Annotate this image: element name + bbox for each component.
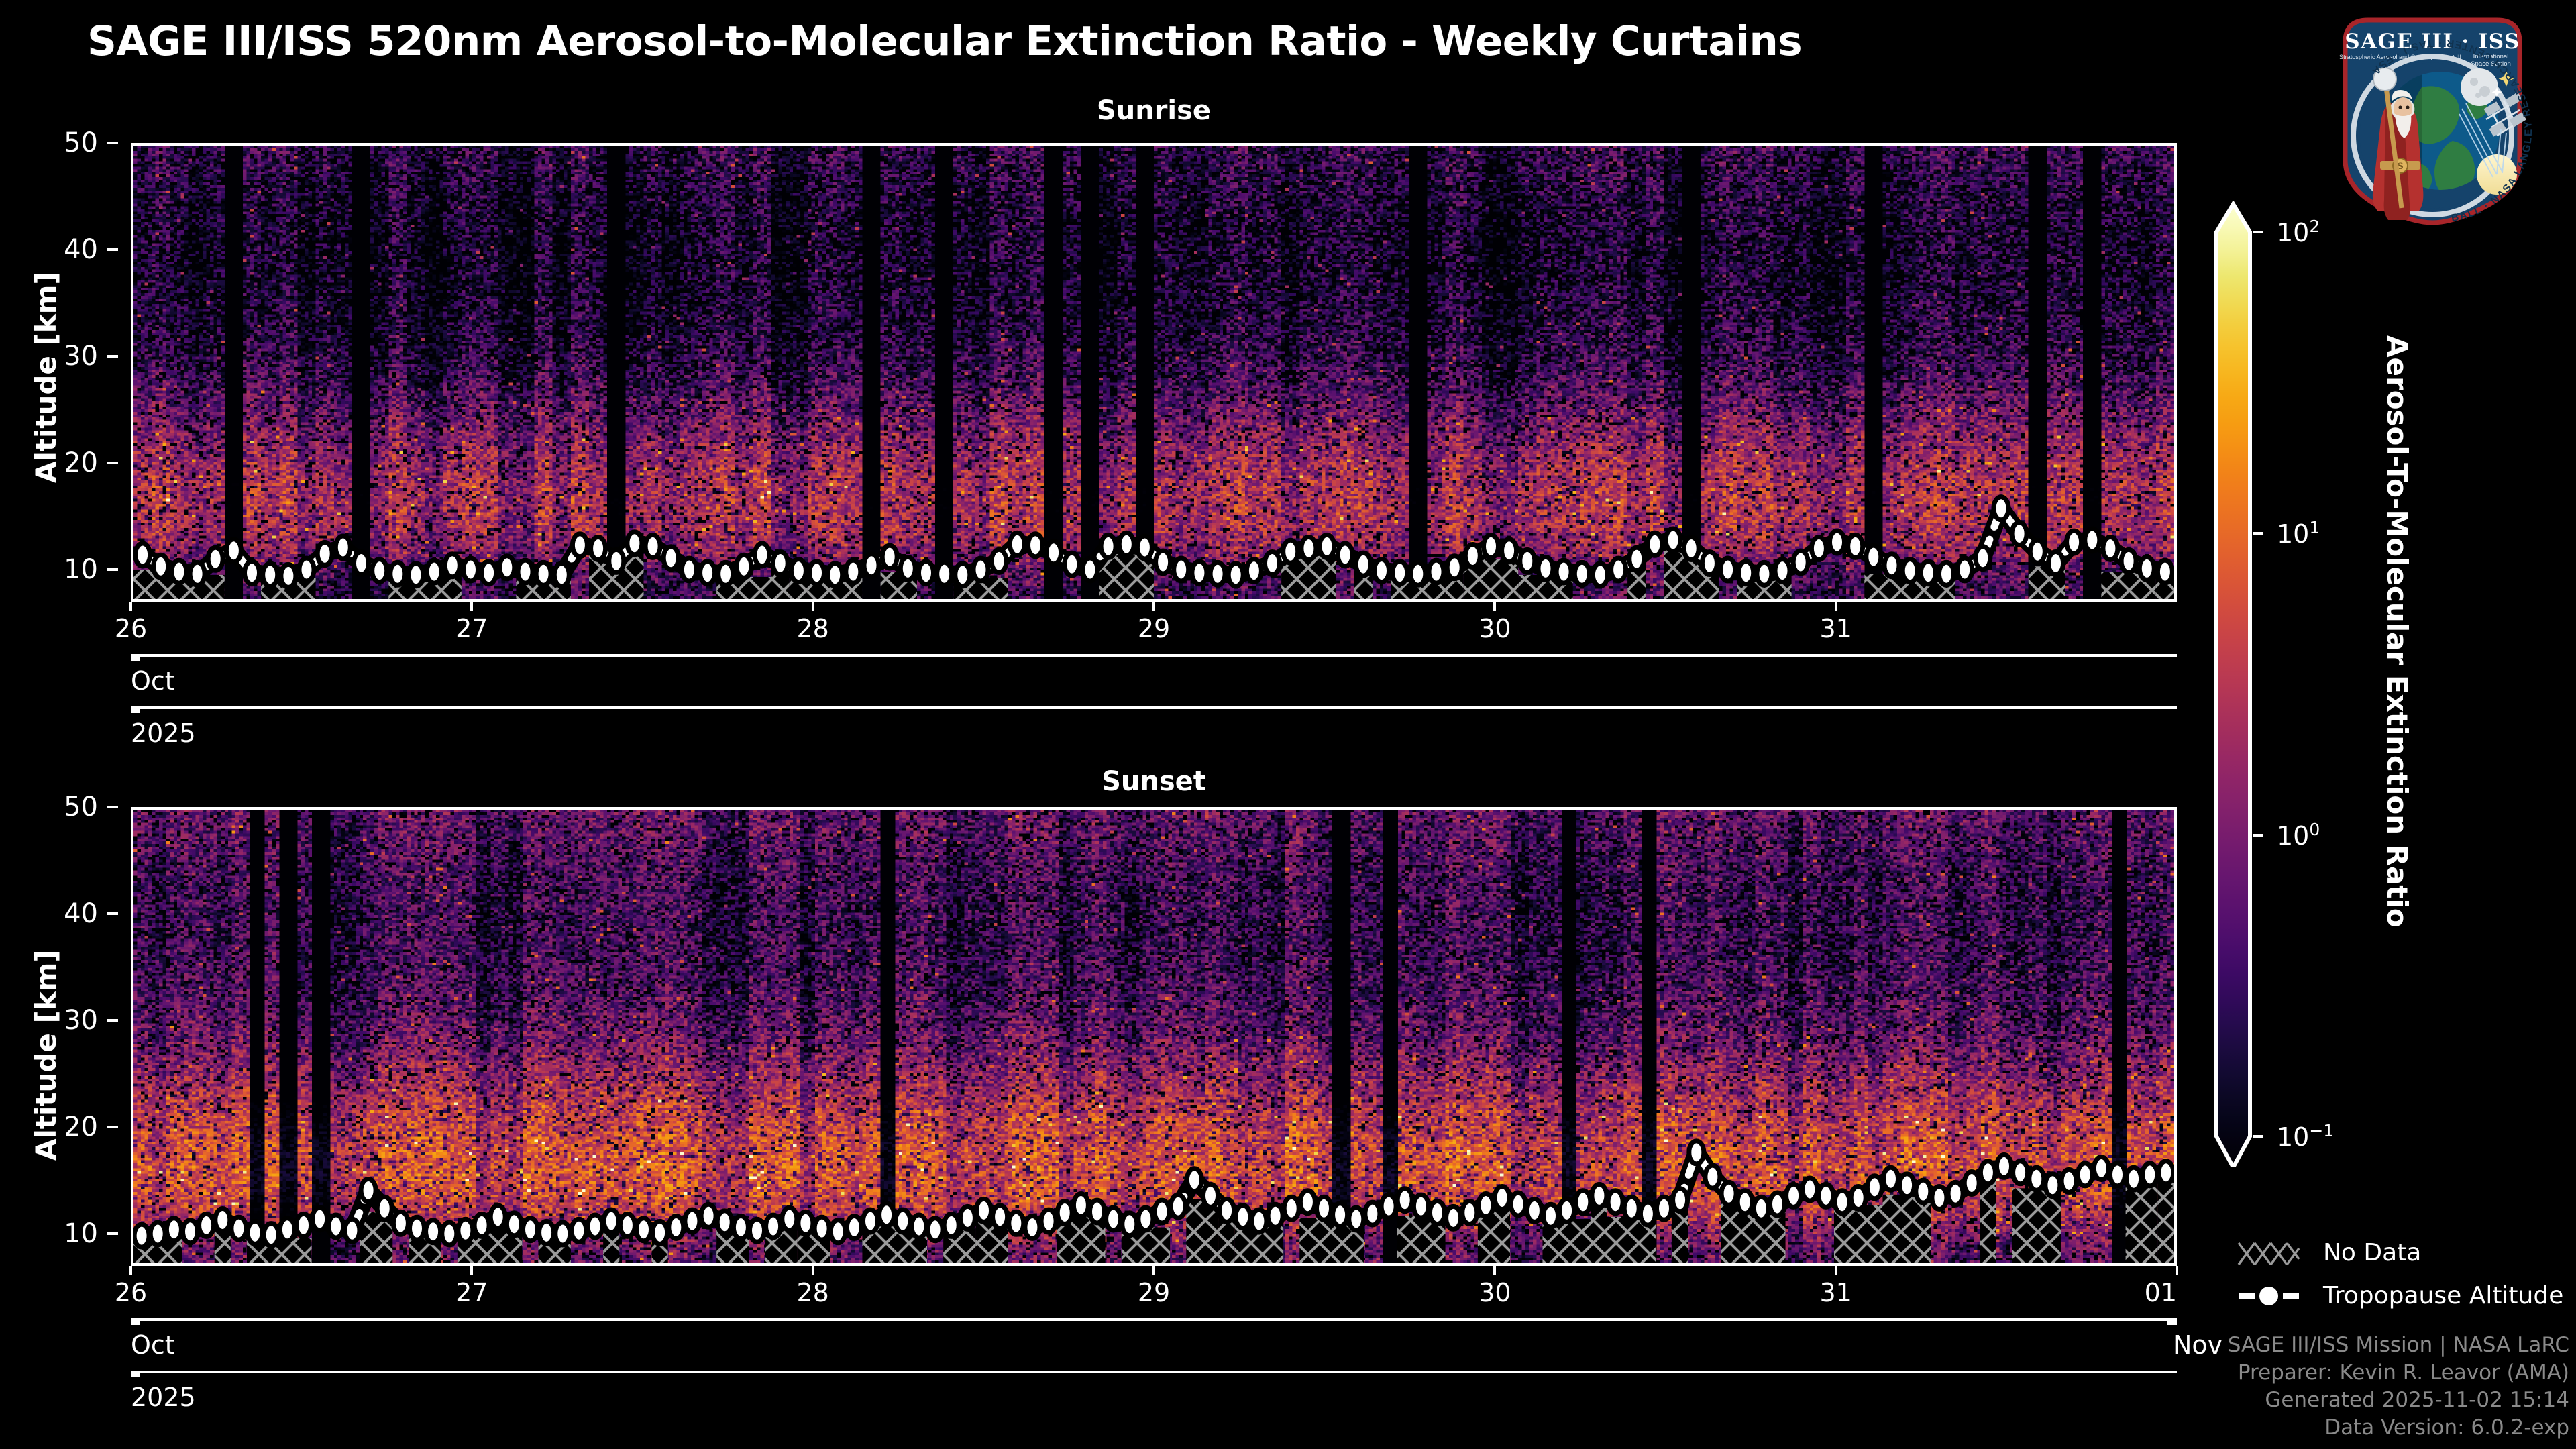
month-band-line (131, 654, 2177, 657)
y-axis-ticks-sunset: 1020304050 (40, 807, 118, 1266)
month-band-cap (131, 1318, 140, 1325)
footer-line-version: Data Version: 6.0.2-exp (2228, 1414, 2569, 1442)
colorbar-tick-mark (2253, 532, 2263, 535)
year-label: 2025 (131, 718, 196, 748)
x-tick-label-day: 01 (2145, 1278, 2177, 1307)
x-tick-mark (1152, 602, 1155, 611)
page-title: SAGE III/ISS 520nm Aerosol-to-Molecular … (87, 17, 2267, 65)
x-tick-mark (1835, 602, 1837, 611)
y-tick-label: 20 (64, 1112, 98, 1142)
legend-row-no-data: No Data (2237, 1238, 2573, 1273)
x-tick-label-day: 26 (115, 1278, 147, 1307)
heatmap-panel-sunrise[interactable] (131, 143, 2177, 602)
colorbar-body (2216, 204, 2250, 1167)
footer-line-preparer: Preparer: Kevin R. Leavor (AMA) (2228, 1359, 2569, 1387)
x-tick-label-day: 28 (796, 614, 828, 643)
y-tick-label: 30 (64, 1005, 98, 1036)
y-tick-label: 20 (64, 447, 98, 478)
footer-line-mission: SAGE III/ISS Mission | NASA LaRC (2228, 1332, 2569, 1359)
colorbar-title: Aerosol-To-Molecular Extinction Ratio (2381, 335, 2414, 928)
footer-credits: SAGE III/ISS Mission | NASA LaRC Prepare… (2228, 1332, 2569, 1442)
y-tick-mark (107, 462, 118, 464)
x-tick-mark (812, 602, 814, 611)
x-tick-label-day: 28 (796, 1278, 828, 1307)
x-tick-label-day: 31 (1819, 614, 1851, 643)
y-tick-label: 50 (64, 792, 98, 822)
x-tick-mark (812, 1266, 814, 1275)
y-tick-label: 10 (64, 554, 98, 585)
y-axis-ticks-sunrise: 1020304050 (40, 143, 118, 602)
x-tick-mark (1152, 1266, 1155, 1275)
month-label: Oct (131, 666, 175, 696)
y-tick-mark (107, 912, 118, 915)
x-axis-date-sunrise: 262728293031Oct2025 (131, 602, 2177, 729)
y-tick-mark (107, 355, 118, 358)
x-tick-mark (2176, 1266, 2178, 1275)
colorbar[interactable] (2214, 201, 2253, 1167)
y-tick-label: 40 (64, 898, 98, 929)
y-tick-mark (107, 142, 118, 144)
x-tick-label-day: 30 (1479, 614, 1511, 643)
no-data-hatch-icon (2237, 1238, 2308, 1269)
x-tick-mark (470, 602, 473, 611)
x-tick-mark (1493, 1266, 1496, 1275)
y-tick-mark (107, 1232, 118, 1235)
colorbar-tick-mark (2253, 231, 2263, 233)
panel-title-sunrise: Sunrise (131, 95, 2177, 126)
y-tick-label: 40 (64, 234, 98, 265)
x-tick-mark (1835, 1266, 1837, 1275)
tropopause-marker-icon (2237, 1281, 2308, 1311)
year-label: 2025 (131, 1383, 196, 1412)
x-tick-label-day: 30 (1479, 1278, 1511, 1307)
year-band-cap (131, 706, 140, 713)
legend-row-tropopause: Tropopause Altitude (2237, 1281, 2573, 1316)
month-band-cap (131, 654, 140, 661)
year-band-line (131, 706, 2177, 709)
x-axis-date-sunset: 26272829303101OctNov2025 (131, 1266, 2177, 1393)
x-tick-label-day: 26 (115, 614, 147, 643)
x-tick-mark (470, 1266, 473, 1275)
y-tick-label: 30 (64, 341, 98, 372)
y-tick-mark (107, 1126, 118, 1128)
panel-title-sunset: Sunset (131, 766, 2177, 797)
y-tick-mark (107, 1019, 118, 1022)
x-tick-label-day: 27 (455, 614, 488, 643)
y-tick-mark (107, 248, 118, 251)
x-tick-label-day: 31 (1819, 1278, 1851, 1307)
month-label: Oct (131, 1330, 175, 1360)
month-band-cap-end (2167, 1318, 2177, 1325)
legend: No Data Tropopause Altitude (2237, 1238, 2573, 1324)
legend-label-tropopause: Tropopause Altitude (2323, 1282, 2563, 1309)
x-tick-mark (129, 1266, 132, 1275)
colorbar-gradient (2214, 201, 2253, 1167)
colorbar-tick-label: 100 (2277, 820, 2320, 851)
y-tick-label: 50 (64, 127, 98, 158)
legend-label-no-data: No Data (2323, 1239, 2421, 1267)
year-band-line (131, 1371, 2177, 1373)
footer-line-generated: Generated 2025-11-02 15:14 (2228, 1387, 2569, 1414)
y-tick-mark (107, 568, 118, 571)
month-label-end: Nov (2173, 1330, 2222, 1360)
x-tick-mark (1493, 602, 1496, 611)
colorbar-tick-mark (2253, 1135, 2263, 1138)
heatmap-panel-sunset[interactable] (131, 807, 2177, 1266)
x-tick-mark (129, 602, 132, 611)
colorbar-tick-label: 101 (2277, 519, 2320, 549)
month-band-line (131, 1318, 2177, 1321)
y-tick-label: 10 (64, 1218, 98, 1249)
x-tick-label-day: 29 (1138, 1278, 1170, 1307)
colorbar-ticks: 10210110010−1 (2253, 201, 2400, 1167)
y-tick-mark (107, 806, 118, 808)
colorbar-tick-label: 102 (2277, 217, 2320, 248)
colorbar-tick-mark (2253, 834, 2263, 837)
x-tick-label-day: 27 (455, 1278, 488, 1307)
colorbar-tick-label: 10−1 (2277, 1121, 2334, 1152)
year-band-cap (131, 1371, 140, 1377)
sage-iii-iss-mission-patch-logo: SAGE III · ISS Stratospheric Aerosol and… (2321, 7, 2542, 228)
x-tick-label-day: 29 (1138, 614, 1170, 643)
